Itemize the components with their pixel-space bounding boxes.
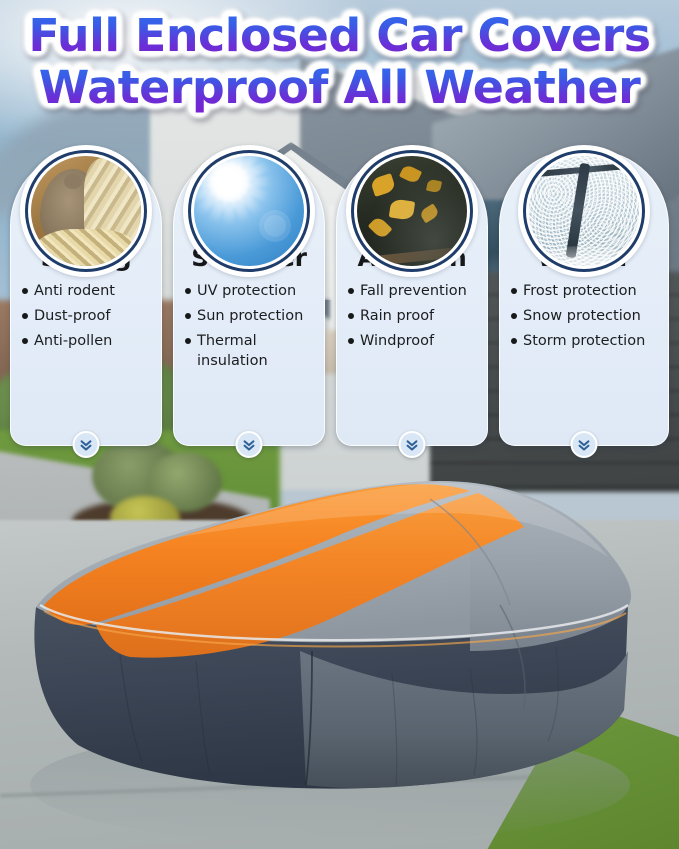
season-card-summer[interactable]: Summer UV protection Sun protection Ther…	[173, 150, 325, 446]
rodent-ear	[64, 174, 82, 189]
photo-ring-inner	[25, 150, 147, 272]
list-item: Storm protection	[511, 331, 659, 351]
feature-label: Dust-proof	[34, 306, 111, 326]
list-item: Windproof	[348, 331, 478, 351]
chevron-double-down-icon[interactable]	[399, 431, 426, 458]
feature-label: Sun protection	[197, 306, 303, 326]
feature-label: Frost protection	[523, 281, 637, 301]
chevron-double-down-icon[interactable]	[236, 431, 263, 458]
list-item: Anti-pollen	[22, 331, 152, 351]
list-item: Anti rodent	[22, 281, 152, 301]
photo-frame	[183, 145, 315, 277]
title-line-1: Full Enclosed Car Covers	[0, 10, 679, 62]
bullet-icon	[348, 288, 354, 294]
feature-list-autumn: Fall prevention Rain proof Windproof	[346, 281, 478, 351]
title-line-2: Waterproof All Weather	[0, 62, 679, 114]
list-item: Rain proof	[348, 306, 478, 326]
list-item: Sun protection	[185, 306, 315, 326]
list-item: Snow protection	[511, 306, 659, 326]
feature-label: Windproof	[360, 331, 434, 351]
feature-label: Anti rodent	[34, 281, 115, 301]
bullet-icon	[511, 338, 517, 344]
bullet-icon	[185, 338, 191, 344]
glass-reflection	[357, 156, 467, 266]
feature-list-winter: Frost protection Snow protection Storm p…	[509, 281, 659, 351]
bullet-icon	[22, 338, 28, 344]
bullet-icon	[348, 313, 354, 319]
feature-label: Storm protection	[523, 331, 645, 351]
photo-ring-inner	[523, 150, 645, 272]
list-item: Thermal insulation	[185, 331, 315, 371]
chevron-double-down-icon[interactable]	[571, 431, 598, 458]
frosted-windshield-photo	[529, 156, 639, 266]
feature-list-summer: UV protection Sun protection Thermal ins…	[183, 281, 315, 371]
fallen-leaves-photo	[357, 156, 467, 266]
list-item: Fall prevention	[348, 281, 478, 301]
bullet-icon	[22, 288, 28, 294]
photo-frame	[518, 145, 650, 277]
feature-label: UV protection	[197, 281, 296, 301]
car-cover-on-sedan-photo	[0, 455, 679, 849]
feature-label: Thermal insulation	[197, 331, 315, 371]
bullet-icon	[511, 288, 517, 294]
bullet-icon	[511, 313, 517, 319]
poster-title: Full Enclosed Car Covers Waterproof All …	[0, 10, 679, 114]
photo-ring-inner	[188, 150, 310, 272]
bullet-icon	[348, 338, 354, 344]
rodent-nest-photo	[31, 156, 141, 266]
bullet-icon	[22, 313, 28, 319]
feature-label: Rain proof	[360, 306, 434, 326]
feature-list-spring: Anti rodent Dust-proof Anti-pollen	[20, 281, 152, 351]
photo-frame	[20, 145, 152, 277]
bullet-icon	[185, 313, 191, 319]
photo-frame	[346, 145, 478, 277]
feature-label: Fall prevention	[360, 281, 467, 301]
lens-flare	[264, 215, 286, 237]
product-infographic: Full Enclosed Car Covers Waterproof All …	[0, 0, 679, 849]
seeds	[31, 229, 141, 266]
list-item: Dust-proof	[22, 306, 152, 326]
feature-label: Snow protection	[523, 306, 641, 326]
season-card-winter[interactable]: Winter Frost protection Snow protection …	[499, 150, 669, 446]
photo-ring-inner	[351, 150, 473, 272]
bullet-icon	[185, 288, 191, 294]
season-card-row: Spring Anti rodent Dust-proof Anti-polle…	[0, 150, 679, 446]
chevron-double-down-icon[interactable]	[73, 431, 100, 458]
season-card-autumn[interactable]: Autumn Fall prevention Rain proof Windpr…	[336, 150, 488, 446]
list-item: Frost protection	[511, 281, 659, 301]
list-item: UV protection	[185, 281, 315, 301]
season-card-spring[interactable]: Spring Anti rodent Dust-proof Anti-polle…	[10, 150, 162, 446]
feature-label: Anti-pollen	[34, 331, 112, 351]
sun-burst-photo	[194, 156, 304, 266]
